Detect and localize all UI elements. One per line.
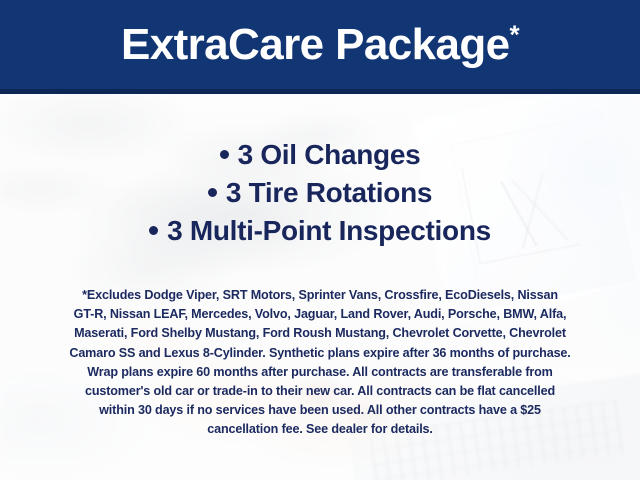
benefit-label: 3 Oil Changes xyxy=(238,139,421,170)
page-title-text: ExtraCare Package xyxy=(121,20,510,69)
disclaimer-line: cancellation fee. See dealer for details… xyxy=(26,420,614,439)
disclaimer-line: customer's old car or trade-in to their … xyxy=(26,382,614,401)
bullet-icon xyxy=(220,150,229,159)
disclaimer-text: *Excludes Dodge Viper, SRT Motors, Sprin… xyxy=(26,286,614,440)
benefit-label: 3 Tire Rotations xyxy=(226,177,432,208)
extracare-package-promo: ExtraCare Package* 3 Oil Changes 3 Tire … xyxy=(0,0,640,480)
disclaimer-line: Wrap plans expire 60 months after purcha… xyxy=(26,363,614,382)
benefit-label: 3 Multi-Point Inspections xyxy=(167,215,491,246)
bullet-icon xyxy=(208,188,217,197)
list-item: 3 Oil Changes xyxy=(0,136,640,174)
disclaimer-line: *Excludes Dodge Viper, SRT Motors, Sprin… xyxy=(26,286,614,305)
disclaimer-line: within 30 days if no services have been … xyxy=(26,401,614,420)
list-item: 3 Tire Rotations xyxy=(0,174,640,212)
list-item: 3 Multi-Point Inspections xyxy=(0,212,640,250)
header-band: ExtraCare Package* xyxy=(0,0,640,94)
benefits-list: 3 Oil Changes 3 Tire Rotations 3 Multi-P… xyxy=(0,136,640,250)
disclaimer-line: Maserati, Ford Shelby Mustang, Ford Rous… xyxy=(26,324,614,343)
page-title: ExtraCare Package* xyxy=(121,23,519,71)
bullet-icon xyxy=(149,226,158,235)
disclaimer-line: Camaro SS and Lexus 8-Cylinder. Syntheti… xyxy=(26,344,614,363)
page-title-asterisk: * xyxy=(509,19,519,49)
disclaimer-line: GT-R, Nissan LEAF, Mercedes, Volvo, Jagu… xyxy=(26,305,614,324)
